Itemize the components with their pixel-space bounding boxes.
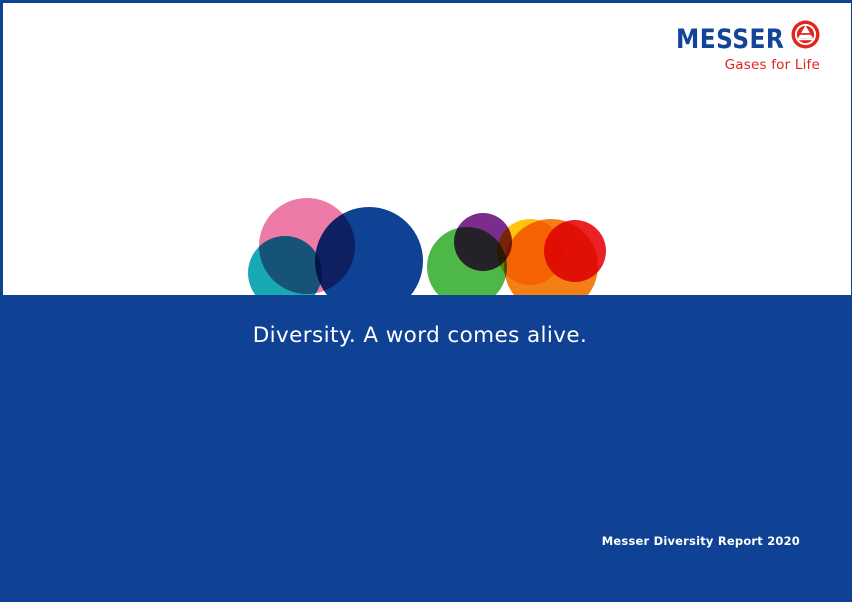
report-title-label: Messer Diversity Report 2020 — [602, 534, 800, 548]
cover-headline: Diversity. A word comes alive. — [3, 323, 852, 348]
report-cover-page: MESSER Gases for Life Diversity. A — [0, 0, 852, 602]
circle-red — [544, 220, 606, 282]
overlapping-circles-diversity-graphic — [3, 3, 852, 295]
cover-lower-blue-band: Diversity. A word comes alive. Messer Di… — [3, 295, 852, 602]
cover-upper-white-area: MESSER Gases for Life — [3, 3, 852, 295]
